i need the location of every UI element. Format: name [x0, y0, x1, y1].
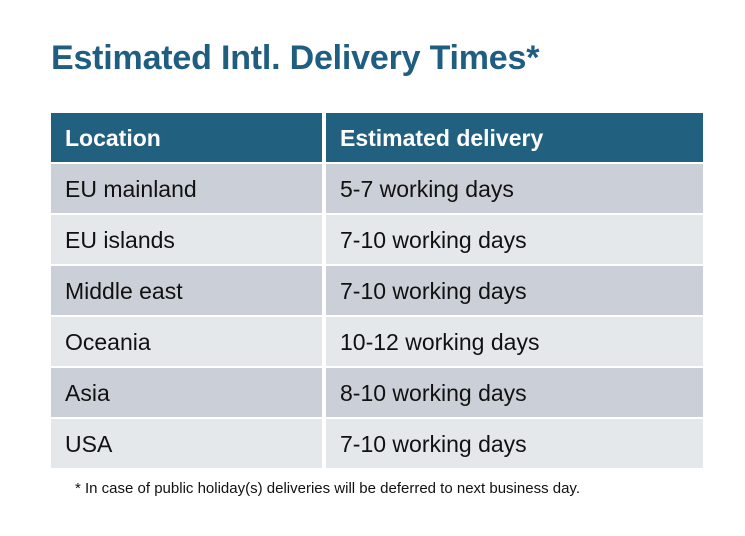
table-row: EU islands 7-10 working days	[51, 215, 703, 264]
delivery-times-page: Estimated Intl. Delivery Times* Location…	[0, 0, 745, 536]
cell-location: EU islands	[51, 215, 322, 264]
cell-delivery: 7-10 working days	[326, 215, 703, 264]
table-row: Oceania 10-12 working days	[51, 317, 703, 366]
cell-location: USA	[51, 419, 322, 468]
cell-delivery: 10-12 working days	[326, 317, 703, 366]
table-header-row: Location Estimated delivery	[51, 113, 703, 162]
cell-location: Oceania	[51, 317, 322, 366]
table-body: EU mainland 5-7 working days EU islands …	[51, 164, 703, 468]
column-header-estimated-delivery: Estimated delivery	[326, 113, 703, 162]
table-row: USA 7-10 working days	[51, 419, 703, 468]
cell-delivery: 5-7 working days	[326, 164, 703, 213]
cell-delivery: 8-10 working days	[326, 368, 703, 417]
delivery-table-container: Location Estimated delivery EU mainland …	[47, 111, 695, 470]
table-row: Asia 8-10 working days	[51, 368, 703, 417]
page-title: Estimated Intl. Delivery Times*	[51, 38, 539, 78]
cell-location: EU mainland	[51, 164, 322, 213]
cell-location: Middle east	[51, 266, 322, 315]
table-header: Location Estimated delivery	[51, 113, 703, 162]
cell-delivery: 7-10 working days	[326, 419, 703, 468]
footnote-text: * In case of public holiday(s) deliverie…	[75, 479, 580, 499]
cell-delivery: 7-10 working days	[326, 266, 703, 315]
column-header-location: Location	[51, 113, 322, 162]
cell-location: Asia	[51, 368, 322, 417]
table-row: EU mainland 5-7 working days	[51, 164, 703, 213]
delivery-times-table: Location Estimated delivery EU mainland …	[47, 111, 707, 470]
table-row: Middle east 7-10 working days	[51, 266, 703, 315]
